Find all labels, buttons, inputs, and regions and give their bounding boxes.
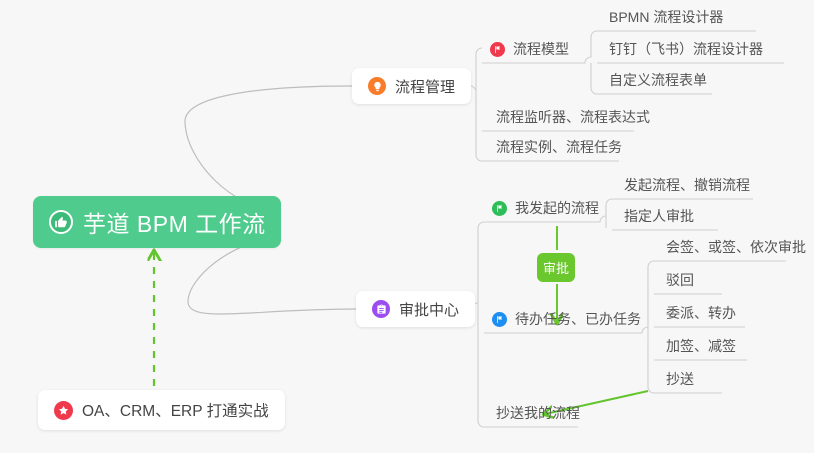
node-label: 待办任务、已办任务 xyxy=(515,312,641,333)
node-chaosong-wode-liucheng[interactable]: 抄送我的流程 xyxy=(488,397,586,427)
node-label: 抄送 xyxy=(666,372,694,393)
branch-liucheng-guanli[interactable]: 流程管理 xyxy=(352,68,471,104)
node-label: 抄送我的流程 xyxy=(496,406,580,427)
badge-shenpi[interactable]: 审批 xyxy=(537,253,575,282)
thumbs-up-icon xyxy=(49,210,73,234)
flag-icon xyxy=(490,42,505,57)
node-custom-form[interactable]: 自定义流程表单 xyxy=(601,64,713,94)
flag-icon xyxy=(492,312,507,327)
node-label: 钉钉（飞书）流程设计器 xyxy=(609,42,763,63)
node-label: 我发起的流程 xyxy=(515,201,599,222)
node-daiban-yiban-renwu[interactable]: 待办任务、已办任务 xyxy=(488,303,647,333)
node-zhidingren-shenpi[interactable]: 指定人审批 xyxy=(616,200,700,230)
node-label: 流程实例、流程任务 xyxy=(496,140,622,161)
node-chaosong[interactable]: 抄送 xyxy=(658,363,700,393)
node-dingtalk-feishu-designer[interactable]: 钉钉（飞书）流程设计器 xyxy=(601,33,769,63)
node-label: 自定义流程表单 xyxy=(609,73,707,94)
node-listener-expression[interactable]: 流程监听器、流程表达式 xyxy=(488,101,656,131)
badge-label: 审批 xyxy=(543,258,569,277)
node-bpmn-designer[interactable]: BPMN 流程设计器 xyxy=(601,1,729,31)
node-label: 加签、减签 xyxy=(666,339,736,360)
star-icon xyxy=(54,401,73,420)
root-label: 芋道 BPM 工作流 xyxy=(83,205,266,239)
node-instance-task[interactable]: 流程实例、流程任务 xyxy=(488,131,628,161)
node-label: 指定人审批 xyxy=(624,209,694,230)
node-weipai-zhuanban[interactable]: 委派、转办 xyxy=(658,297,742,327)
link-root-to-liucheng-guanli xyxy=(185,86,352,212)
root-node[interactable]: 芋道 BPM 工作流 xyxy=(33,196,281,248)
flag-icon xyxy=(492,201,507,216)
node-label: 流程模型 xyxy=(513,42,569,63)
branch-shenpi-zhongxin[interactable]: 审批中心 xyxy=(356,291,475,327)
node-faqi-chexiao[interactable]: 发起流程、撤销流程 xyxy=(616,169,756,199)
node-liucheng-moxing[interactable]: 流程模型 xyxy=(486,33,575,63)
node-huiqian-huoqian-yici[interactable]: 会签、或签、依次审批 xyxy=(658,231,812,261)
branch-label: 审批中心 xyxy=(399,299,459,320)
node-label: 流程监听器、流程表达式 xyxy=(496,110,650,131)
link-spine-liucheng-moxing xyxy=(577,31,597,63)
node-yuhui[interactable]: 驳回 xyxy=(658,264,700,294)
mindmap-canvas: 芋道 BPM 工作流 流程管理 流程模型 流程监听器、流程表达式 流程实例、流程… xyxy=(0,0,814,453)
node-label: 驳回 xyxy=(666,273,694,294)
node-label: BPMN 流程设计器 xyxy=(609,10,723,31)
branch-label: 流程管理 xyxy=(395,76,455,97)
node-label: OA、CRM、ERP 打通实战 xyxy=(82,399,269,421)
node-wo-faqi-de-liucheng[interactable]: 我发起的流程 xyxy=(488,192,605,222)
lightbulb-icon xyxy=(368,77,386,95)
node-label: 会签、或签、依次审批 xyxy=(666,240,806,261)
node-oa-crm-erp[interactable]: OA、CRM、ERP 打通实战 xyxy=(38,390,285,430)
node-jiaqian-jianqian[interactable]: 加签、减签 xyxy=(658,330,742,360)
node-label: 发起流程、撤销流程 xyxy=(624,178,750,199)
clipboard-icon xyxy=(372,300,390,318)
node-label: 委派、转办 xyxy=(666,306,736,327)
